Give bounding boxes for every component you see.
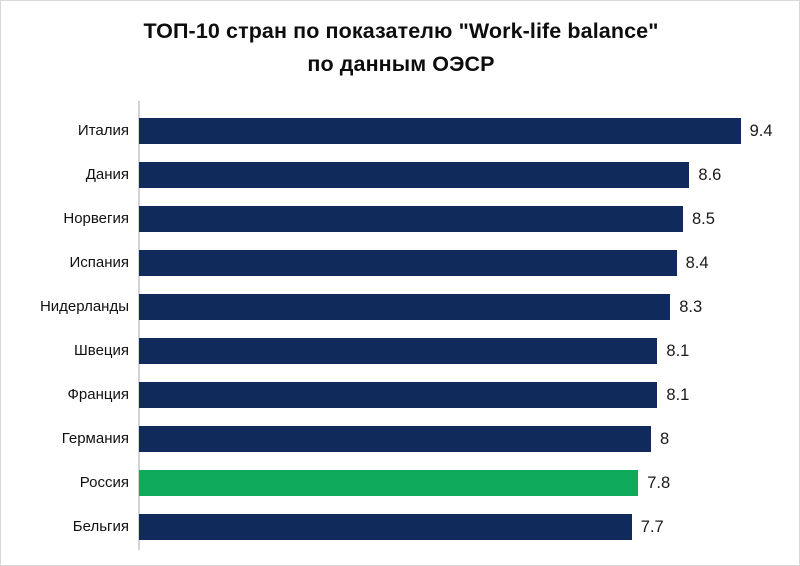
plot-area: Италия9.4Дания8.6Норвегия8.5Испания8.4Ни… (1, 97, 800, 549)
bar-value-label: 8.5 (692, 197, 715, 241)
bar-highlighted[interactable] (139, 470, 638, 496)
category-label: Россия (1, 461, 129, 505)
bar-row: Нидерланды8.3 (1, 285, 800, 329)
bar[interactable] (139, 250, 677, 276)
bar-row: Бельгия7.7 (1, 505, 800, 549)
chart-title: ТОП-10 стран по показателю "Work-life ba… (1, 15, 800, 81)
bar-row: Швеция8.1 (1, 329, 800, 373)
bar-value-label: 8.4 (686, 241, 709, 285)
bar-value-label: 8 (660, 417, 669, 461)
bar-value-label: 8.3 (679, 285, 702, 329)
bar-value-label: 8.1 (666, 373, 689, 417)
category-label: Норвегия (1, 197, 129, 241)
category-label: Испания (1, 241, 129, 285)
bar-row: Германия8 (1, 417, 800, 461)
bar-series: Италия9.4Дания8.6Норвегия8.5Испания8.4Ни… (1, 97, 800, 549)
chart-title-line-1: ТОП-10 стран по показателю "Work-life ba… (1, 15, 800, 48)
bar[interactable] (139, 514, 632, 540)
bar-value-label: 9.4 (750, 109, 773, 153)
bar[interactable] (139, 162, 689, 188)
category-label: Франция (1, 373, 129, 417)
bar[interactable] (139, 382, 657, 408)
bar[interactable] (139, 426, 651, 452)
bar-row: Норвегия8.5 (1, 197, 800, 241)
bar-value-label: 7.7 (641, 505, 664, 549)
chart-title-line-2: по данным ОЭСР (1, 48, 800, 81)
chart-container: ТОП-10 стран по показателю "Work-life ba… (0, 0, 800, 566)
category-label: Нидерланды (1, 285, 129, 329)
bar[interactable] (139, 294, 670, 320)
bar-row: Испания8.4 (1, 241, 800, 285)
bar-value-label: 8.1 (666, 329, 689, 373)
category-label: Бельгия (1, 505, 129, 549)
bar-row: Италия9.4 (1, 109, 800, 153)
bar[interactable] (139, 118, 741, 144)
bar-row: Дания8.6 (1, 153, 800, 197)
bar-value-label: 8.6 (698, 153, 721, 197)
category-label: Германия (1, 417, 129, 461)
bar[interactable] (139, 206, 683, 232)
category-label: Италия (1, 109, 129, 153)
category-label: Дания (1, 153, 129, 197)
bar-value-label: 7.8 (647, 461, 670, 505)
bar-row: Россия7.8 (1, 461, 800, 505)
bar[interactable] (139, 338, 657, 364)
bar-row: Франция8.1 (1, 373, 800, 417)
category-label: Швеция (1, 329, 129, 373)
